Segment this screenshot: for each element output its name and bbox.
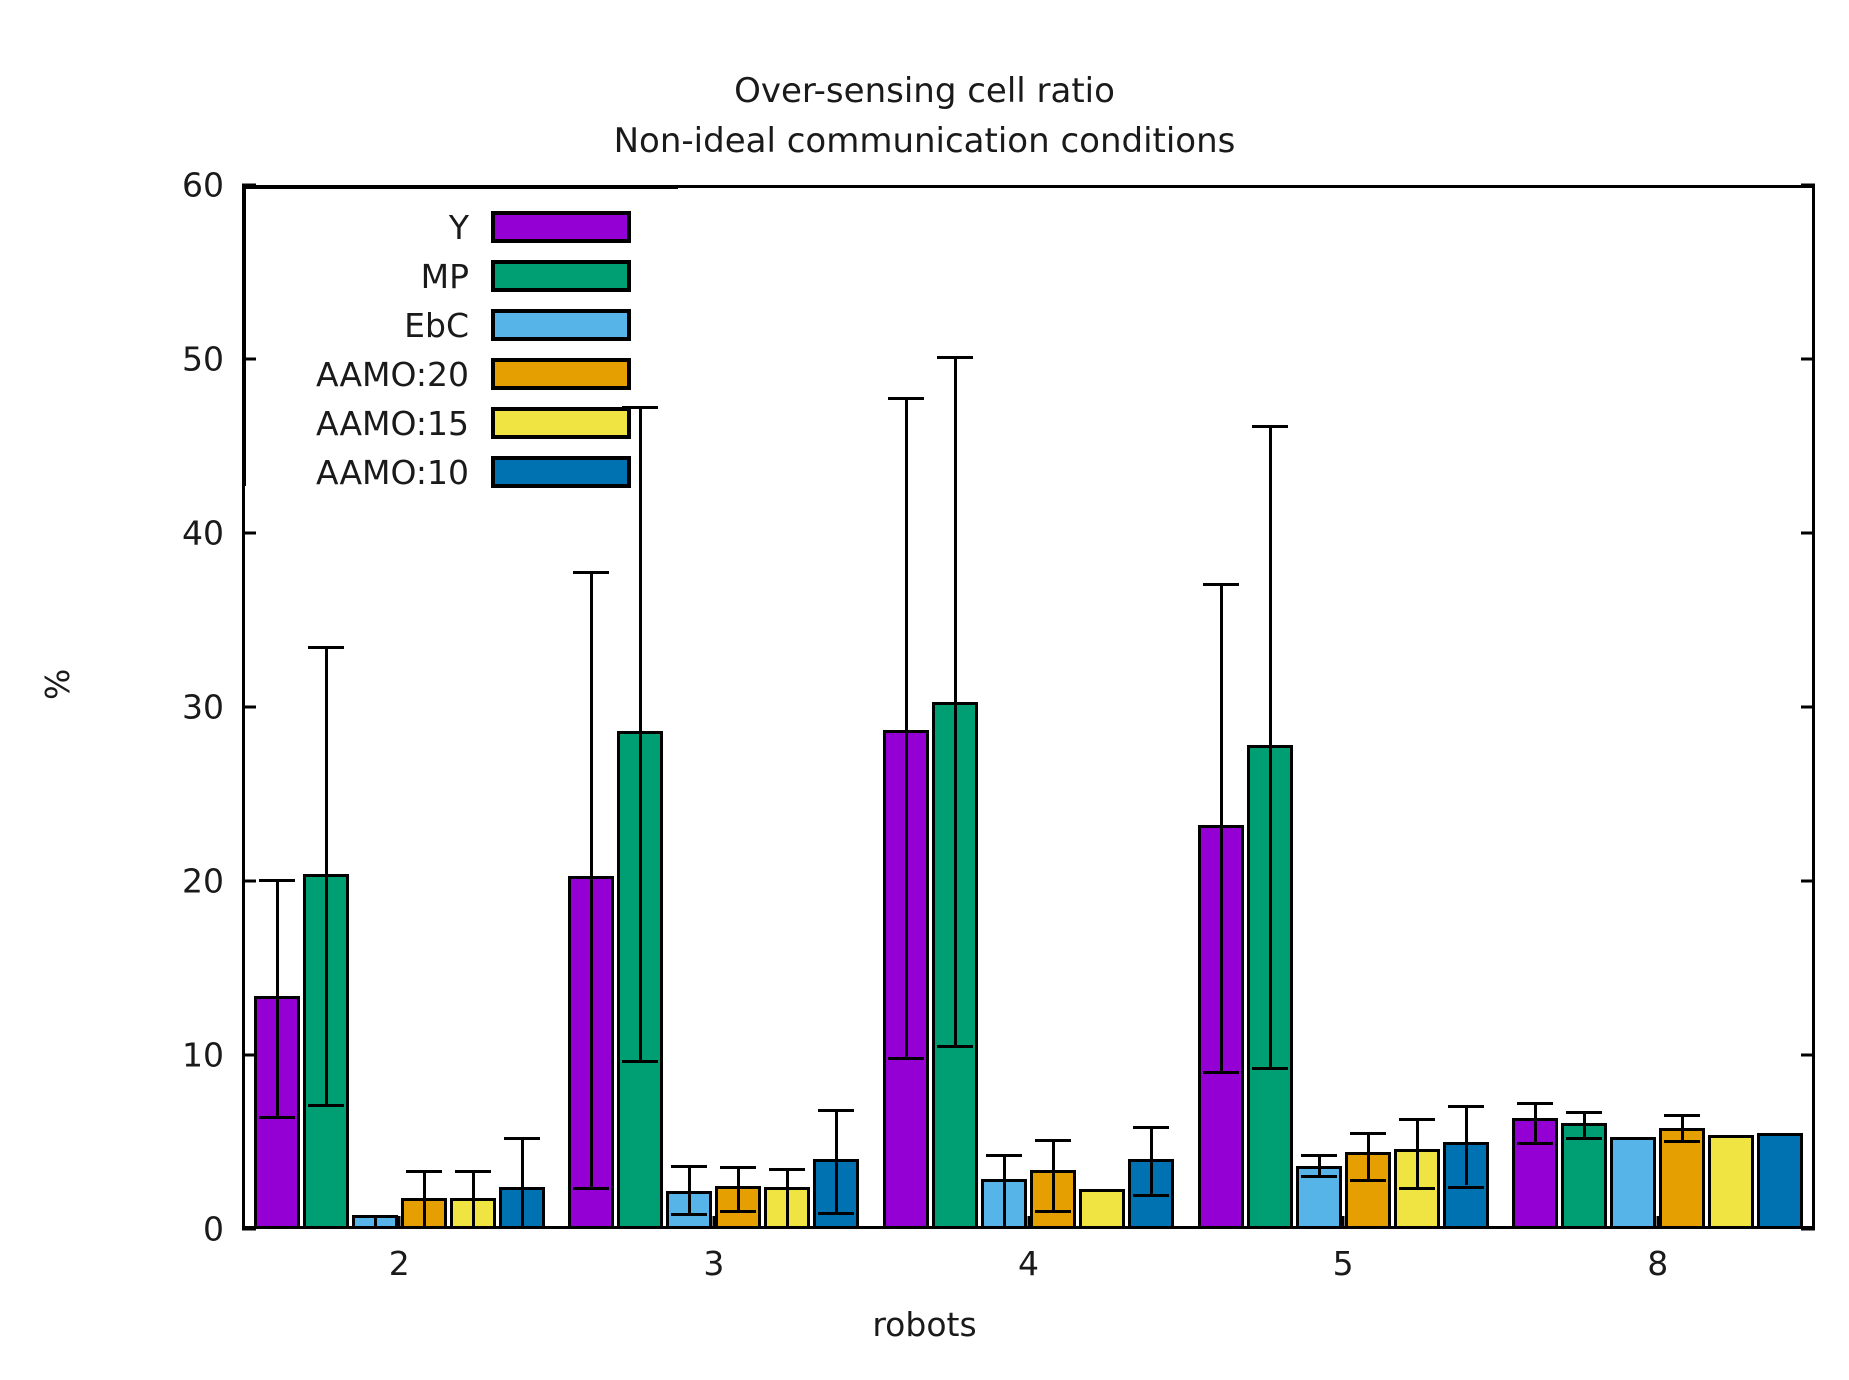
y-tick-label: 60 <box>114 166 224 205</box>
error-bar-line <box>954 356 957 1045</box>
error-bar-cap-top <box>937 356 973 359</box>
error-bar-cap-bottom <box>720 1210 756 1213</box>
error-bar-line <box>737 1166 740 1210</box>
error-bar-line <box>786 1168 789 1229</box>
y-tick-mark <box>242 706 256 709</box>
y-tick-mark-right <box>1801 184 1815 187</box>
bar-ebc-8 <box>1610 1137 1656 1229</box>
error-bar-line <box>472 1170 475 1229</box>
error-bar-line <box>1269 425 1272 1067</box>
error-bar-line <box>688 1165 691 1214</box>
y-tick-label: 30 <box>114 688 224 727</box>
y-tick-mark <box>242 184 256 187</box>
error-bar-cap-bottom <box>308 1104 344 1107</box>
y-tick-label: 0 <box>114 1210 224 1249</box>
error-bar-cap-top <box>1301 1154 1337 1157</box>
error-bar-line <box>1318 1154 1321 1175</box>
error-bar-cap-bottom <box>573 1187 609 1190</box>
error-bar-cap-bottom <box>818 1212 854 1215</box>
error-bar-cap-top <box>720 1166 756 1169</box>
x-axis-title: robots <box>0 1305 1849 1344</box>
error-bar-line <box>1681 1114 1684 1140</box>
error-bar-cap-bottom <box>671 1213 707 1216</box>
error-bar-cap-top <box>455 1170 491 1173</box>
error-bar-cap-top <box>1664 1114 1700 1117</box>
y-tick-mark-right <box>1801 532 1815 535</box>
error-bar-line <box>521 1137 524 1229</box>
chart-root: Over-sensing cell ratio Non-ideal commun… <box>0 0 1849 1380</box>
error-bar-cap-top <box>573 571 609 574</box>
error-bar-line <box>325 646 328 1104</box>
error-bar-cap-bottom <box>1448 1186 1484 1189</box>
y-tick-label: 40 <box>114 514 224 553</box>
x-tick-label: 8 <box>1647 1244 1668 1283</box>
error-bar-cap-bottom <box>1252 1067 1288 1070</box>
error-bar-cap-top <box>259 879 295 882</box>
error-bar-cap-top <box>622 406 658 409</box>
error-bar-cap-bottom <box>1762 1133 1798 1136</box>
x-tick-label: 3 <box>703 1244 724 1283</box>
x-tick-label: 2 <box>389 1244 410 1283</box>
y-tick-mark <box>242 532 256 535</box>
bar-aamo-15-4 <box>1079 1189 1125 1229</box>
error-bar-cap-bottom <box>259 1116 295 1119</box>
error-bar-line <box>835 1109 838 1212</box>
y-tick-label: 50 <box>114 340 224 379</box>
error-bar-cap-top <box>1203 583 1239 586</box>
error-bar-cap-bottom <box>1035 1210 1071 1213</box>
error-bar-line <box>1003 1154 1006 1229</box>
error-bar-cap-bottom <box>1350 1179 1386 1182</box>
error-bar-cap-bottom <box>1517 1142 1553 1145</box>
error-bar-cap-bottom <box>937 1045 973 1048</box>
error-bar-line <box>639 406 642 1060</box>
error-bar-cap-top <box>1448 1105 1484 1108</box>
error-bar-line <box>1534 1102 1537 1142</box>
bar-aamo-10-8 <box>1757 1133 1803 1229</box>
chart-title-line2: Non-ideal communication conditions <box>0 117 1849 166</box>
error-bar-cap-bottom <box>1301 1175 1337 1178</box>
error-bar-cap-top <box>357 1215 393 1218</box>
error-bar-cap-top <box>671 1165 707 1168</box>
bar-aamo-15-8 <box>1708 1135 1754 1229</box>
plot-area <box>242 185 1815 1229</box>
error-bar-cap-top <box>504 1137 540 1140</box>
error-bar-cap-bottom <box>1615 1137 1651 1140</box>
error-bar-cap-top <box>1517 1102 1553 1105</box>
error-bar-cap-top <box>1350 1132 1386 1135</box>
error-bar-cap-top <box>1133 1126 1169 1129</box>
error-bar-cap-bottom <box>622 1060 658 1063</box>
error-bar-cap-top <box>1399 1118 1435 1121</box>
error-bar-line <box>1220 583 1223 1070</box>
error-bar-cap-top <box>769 1168 805 1171</box>
error-bar-cap-bottom <box>888 1057 924 1060</box>
error-bar-line <box>276 879 279 1116</box>
error-bar-line <box>1052 1139 1055 1210</box>
error-bar-line <box>1583 1111 1586 1137</box>
y-tick-mark-right <box>1801 358 1815 361</box>
y-tick-label: 20 <box>114 862 224 901</box>
x-tick-label: 5 <box>1333 1244 1354 1283</box>
error-bar-line <box>1465 1105 1468 1185</box>
error-bar-line <box>590 571 593 1187</box>
error-bar-cap-bottom <box>1084 1189 1120 1192</box>
error-bar-cap-top <box>888 397 924 400</box>
y-tick-mark-right <box>1801 880 1815 883</box>
error-bar-cap-top <box>406 1170 442 1173</box>
error-bar-line <box>423 1170 426 1229</box>
y-tick-mark-right <box>1801 1054 1815 1057</box>
y-tick-label: 10 <box>114 1036 224 1075</box>
y-tick-mark-right <box>1801 706 1815 709</box>
error-bar-cap-bottom <box>1399 1187 1435 1190</box>
error-bar-line <box>1150 1126 1153 1194</box>
error-bar-cap-top <box>1035 1139 1071 1142</box>
error-bar-line <box>905 397 908 1056</box>
x-tick-label: 4 <box>1018 1244 1039 1283</box>
y-axis-title: % <box>38 669 77 700</box>
error-bar-line <box>1367 1132 1370 1179</box>
y-tick-mark <box>242 880 256 883</box>
error-bar-cap-bottom <box>1664 1140 1700 1143</box>
error-bar-line <box>1416 1118 1419 1188</box>
error-bar-cap-bottom <box>1713 1135 1749 1138</box>
error-bar-cap-bottom <box>1133 1194 1169 1197</box>
y-tick-mark <box>242 358 256 361</box>
error-bar-cap-top <box>986 1154 1022 1157</box>
error-bar-cap-bottom <box>1566 1137 1602 1140</box>
error-bar-cap-top <box>818 1109 854 1112</box>
error-bar-cap-top <box>1252 425 1288 428</box>
chart-title-line1: Over-sensing cell ratio <box>734 71 1115 111</box>
error-bar-cap-top <box>308 646 344 649</box>
error-bar-cap-top <box>1566 1111 1602 1114</box>
error-bar-cap-bottom <box>1203 1071 1239 1074</box>
